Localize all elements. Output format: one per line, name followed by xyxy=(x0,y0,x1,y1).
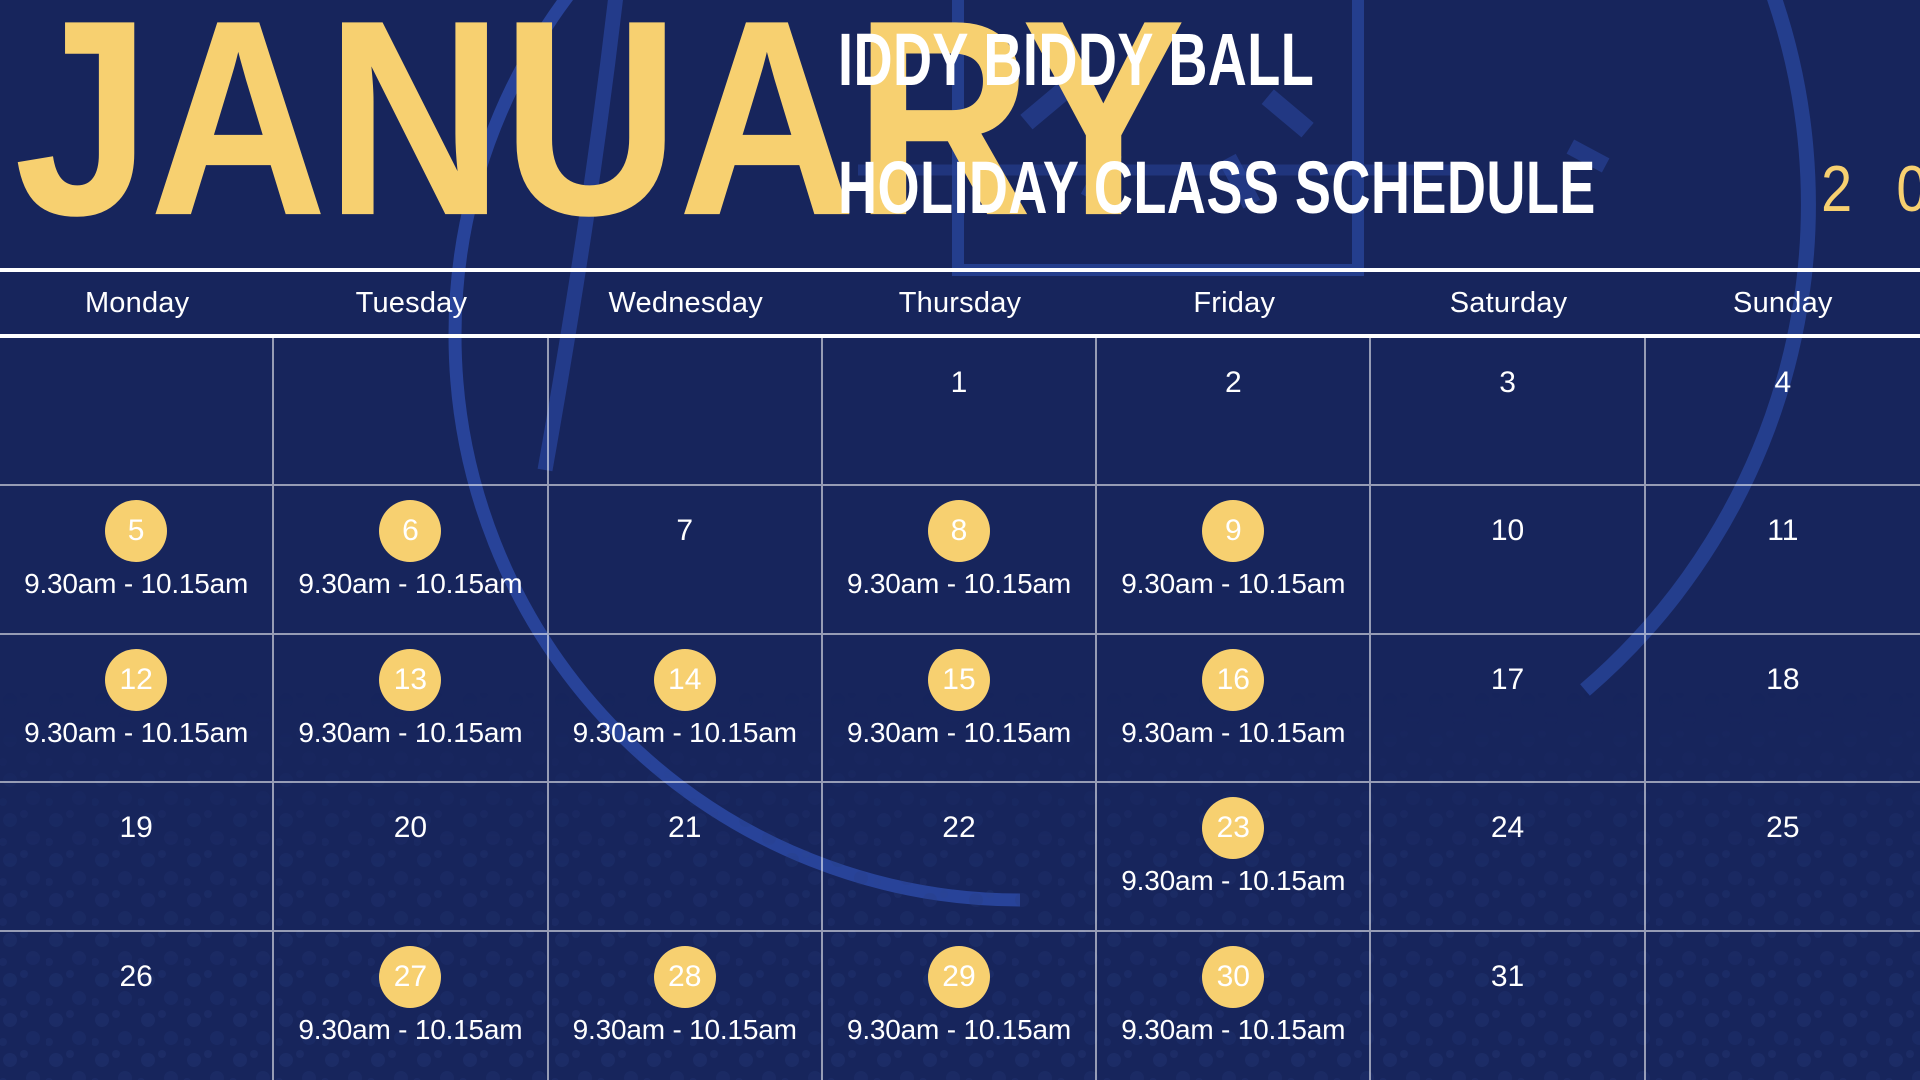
title-block: IDDY BIDDY BALL HOLIDAY CLASS SCHEDULE 2… xyxy=(838,24,1908,222)
day-number: 2 xyxy=(1202,352,1264,414)
class-time-label: 9.30am - 10.15am xyxy=(573,717,797,749)
day-number: 7 xyxy=(654,500,716,562)
class-time-label: 9.30am - 10.15am xyxy=(847,568,1071,600)
day-cell-2[interactable]: 2 xyxy=(1097,338,1371,486)
day-cell-23[interactable]: 239.30am - 10.15am xyxy=(1097,783,1371,931)
weekday-monday: Monday xyxy=(0,272,274,334)
day-number: 10 xyxy=(1477,500,1539,562)
day-cell-1[interactable]: 1 xyxy=(823,338,1097,486)
class-time-label: 9.30am - 10.15am xyxy=(24,568,248,600)
day-number: 3 xyxy=(1477,352,1539,414)
class-time-label: 9.30am - 10.15am xyxy=(1121,717,1345,749)
day-number-badge: 28 xyxy=(654,946,716,1008)
day-cell-24[interactable]: 24 xyxy=(1371,783,1645,931)
day-number: 4 xyxy=(1752,352,1814,414)
day-cell-20[interactable]: 20 xyxy=(274,783,548,931)
day-cell-6[interactable]: 69.30am - 10.15am xyxy=(274,486,548,634)
calendar-page: JANUARY IDDY BIDDY BALL HOLIDAY CLASS SC… xyxy=(0,0,1920,1080)
day-cell-11[interactable]: 11 xyxy=(1646,486,1920,634)
weekday-wednesday: Wednesday xyxy=(549,272,823,334)
day-number: 20 xyxy=(379,797,441,859)
day-cell-empty xyxy=(1646,932,1920,1080)
day-number-badge: 29 xyxy=(928,946,990,1008)
day-cell-9[interactable]: 99.30am - 10.15am xyxy=(1097,486,1371,634)
day-number: 18 xyxy=(1752,649,1814,711)
day-cell-14[interactable]: 149.30am - 10.15am xyxy=(549,635,823,783)
day-cell-8[interactable]: 89.30am - 10.15am xyxy=(823,486,1097,634)
class-time-label: 9.30am - 10.15am xyxy=(847,1014,1071,1046)
day-number-badge: 12 xyxy=(105,649,167,711)
weekday-header-row: Monday Tuesday Wednesday Thursday Friday… xyxy=(0,272,1920,334)
class-time-label: 9.30am - 10.15am xyxy=(298,568,522,600)
day-cell-empty xyxy=(0,338,274,486)
schedule-title: HOLIDAY CLASS SCHEDULE xyxy=(838,148,1596,226)
day-number-badge: 15 xyxy=(928,649,990,711)
day-cell-17[interactable]: 17 xyxy=(1371,635,1645,783)
calendar-header: JANUARY IDDY BIDDY BALL HOLIDAY CLASS SC… xyxy=(0,0,1920,272)
brand-title: IDDY BIDDY BALL xyxy=(838,20,1715,98)
day-cell-31[interactable]: 31 xyxy=(1371,932,1645,1080)
day-number: 24 xyxy=(1477,797,1539,859)
day-cell-28[interactable]: 289.30am - 10.15am xyxy=(549,932,823,1080)
day-cell-29[interactable]: 299.30am - 10.15am xyxy=(823,932,1097,1080)
day-cell-15[interactable]: 159.30am - 10.15am xyxy=(823,635,1097,783)
weekday-thursday: Thursday xyxy=(823,272,1097,334)
day-number: 22 xyxy=(928,797,990,859)
day-number-badge: 16 xyxy=(1202,649,1264,711)
day-cell-25[interactable]: 25 xyxy=(1646,783,1920,931)
class-time-label: 9.30am - 10.15am xyxy=(24,717,248,749)
day-number-badge: 6 xyxy=(379,500,441,562)
class-time-label: 9.30am - 10.15am xyxy=(1121,865,1345,897)
weekday-saturday: Saturday xyxy=(1371,272,1645,334)
subtitle-row: HOLIDAY CLASS SCHEDULE 2 0 2 6 xyxy=(838,152,1908,222)
day-cell-27[interactable]: 279.30am - 10.15am xyxy=(274,932,548,1080)
day-cell-7[interactable]: 7 xyxy=(549,486,823,634)
day-cell-18[interactable]: 18 xyxy=(1646,635,1920,783)
day-number-badge: 23 xyxy=(1202,797,1264,859)
weekday-tuesday: Tuesday xyxy=(274,272,548,334)
day-number-badge: 27 xyxy=(379,946,441,1008)
day-number: 26 xyxy=(105,946,167,1008)
weekday-sunday: Sunday xyxy=(1646,272,1920,334)
weekday-friday: Friday xyxy=(1097,272,1371,334)
day-cell-empty xyxy=(549,338,823,486)
day-cell-22[interactable]: 22 xyxy=(823,783,1097,931)
day-cell-13[interactable]: 139.30am - 10.15am xyxy=(274,635,548,783)
day-number-badge: 8 xyxy=(928,500,990,562)
day-cell-19[interactable]: 19 xyxy=(0,783,274,931)
day-number-badge: 9 xyxy=(1202,500,1264,562)
day-number: 31 xyxy=(1477,946,1539,1008)
day-number: 17 xyxy=(1477,649,1539,711)
day-number: 19 xyxy=(105,797,167,859)
class-time-label: 9.30am - 10.15am xyxy=(1121,568,1345,600)
day-cell-26[interactable]: 26 xyxy=(0,932,274,1080)
class-time-label: 9.30am - 10.15am xyxy=(847,717,1071,749)
year-label: 2 0 2 6 xyxy=(1821,157,1920,222)
class-time-label: 9.30am - 10.15am xyxy=(298,1014,522,1046)
day-cell-16[interactable]: 169.30am - 10.15am xyxy=(1097,635,1371,783)
class-time-label: 9.30am - 10.15am xyxy=(298,717,522,749)
day-cell-4[interactable]: 4 xyxy=(1646,338,1920,486)
day-number-badge: 30 xyxy=(1202,946,1264,1008)
day-number: 1 xyxy=(928,352,990,414)
day-cell-3[interactable]: 3 xyxy=(1371,338,1645,486)
class-time-label: 9.30am - 10.15am xyxy=(1121,1014,1345,1046)
day-number: 11 xyxy=(1752,500,1814,562)
class-time-label: 9.30am - 10.15am xyxy=(573,1014,797,1046)
day-cell-12[interactable]: 129.30am - 10.15am xyxy=(0,635,274,783)
day-cell-30[interactable]: 309.30am - 10.15am xyxy=(1097,932,1371,1080)
day-number: 21 xyxy=(654,797,716,859)
day-cell-5[interactable]: 59.30am - 10.15am xyxy=(0,486,274,634)
day-number-badge: 13 xyxy=(379,649,441,711)
day-number-badge: 5 xyxy=(105,500,167,562)
day-cell-empty xyxy=(274,338,548,486)
day-cell-10[interactable]: 10 xyxy=(1371,486,1645,634)
day-number: 25 xyxy=(1752,797,1814,859)
day-cell-21[interactable]: 21 xyxy=(549,783,823,931)
calendar-grid: 123459.30am - 10.15am69.30am - 10.15am78… xyxy=(0,338,1920,1080)
day-number-badge: 14 xyxy=(654,649,716,711)
